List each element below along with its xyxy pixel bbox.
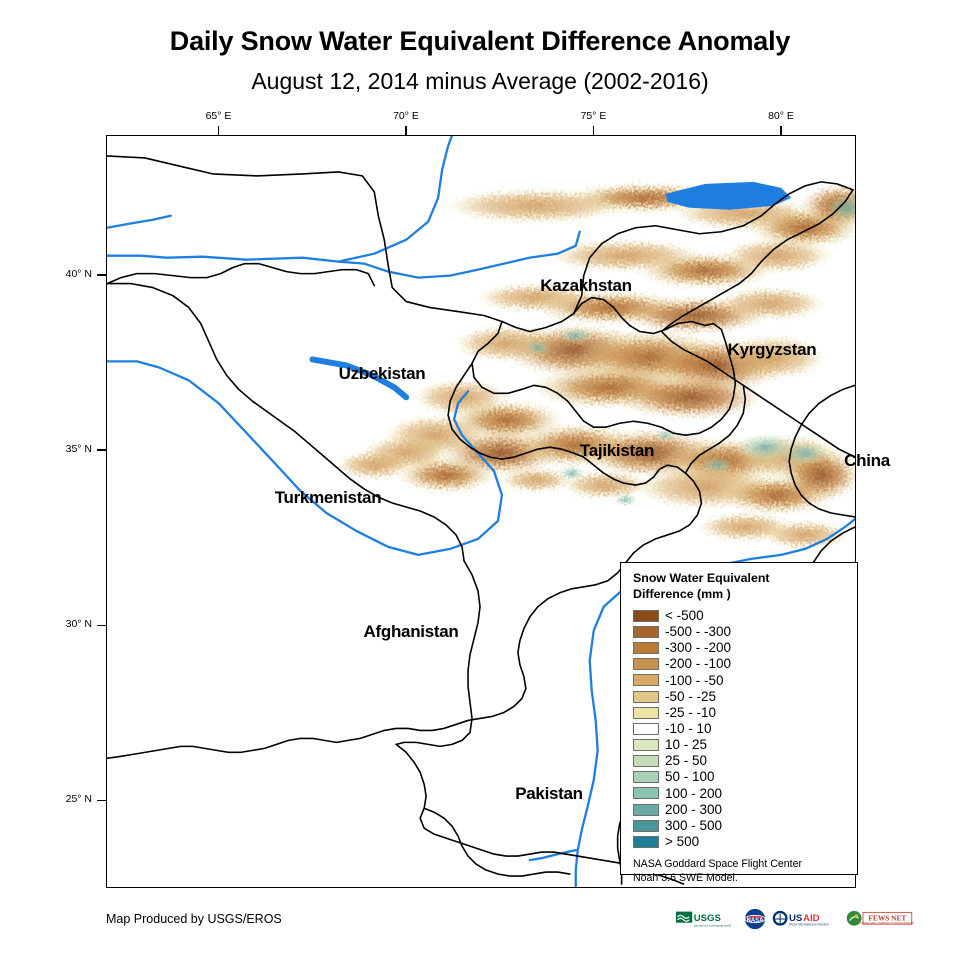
lon-tick-label-1: 70° E: [376, 110, 436, 122]
legend-label-9: 25 - 50: [665, 754, 707, 768]
svg-text:AID: AID: [803, 913, 820, 924]
lat-tick-mark-3: [97, 800, 106, 802]
legend-row-2: -300 - -200: [633, 640, 847, 656]
lon-tick-label-2: 75° E: [564, 110, 624, 122]
legend-row-0: < -500: [633, 608, 847, 624]
usgs-logo: USGS science for a changing world: [676, 908, 738, 930]
map-legend: Snow Water Equivalent Difference (mm ) <…: [620, 562, 858, 875]
legend-label-5: -50 - -25: [665, 690, 716, 704]
svg-text:US: US: [789, 913, 803, 924]
lon-tick-mark-3: [780, 126, 782, 135]
legend-label-11: 100 - 200: [665, 787, 722, 801]
legend-label-3: -200 - -100: [665, 657, 731, 671]
legend-row-3: -200 - -100: [633, 656, 847, 672]
lon-tick-mark-0: [218, 126, 220, 135]
lat-tick-label-3: 25° N: [32, 793, 92, 805]
country-label-kyrgyzstan: Kyrgyzstan: [728, 340, 817, 360]
legend-swatch-6: [633, 707, 659, 719]
legend-swatch-10: [633, 771, 659, 783]
legend-swatch-0: [633, 610, 659, 622]
footer-credit: Map Produced by USGS/EROS: [106, 912, 282, 926]
legend-swatch-9: [633, 755, 659, 767]
legend-entries: < -500-500 - -300-300 - -200-200 - -100-…: [633, 608, 847, 850]
legend-swatch-8: [633, 739, 659, 751]
svg-text:FEWS NET: FEWS NET: [868, 913, 906, 922]
svg-text:NASA: NASA: [747, 918, 765, 924]
legend-row-9: 25 - 50: [633, 753, 847, 769]
svg-text:science for a changing world: science for a changing world: [694, 923, 732, 927]
legend-title: Snow Water Equivalent Difference (mm ): [633, 571, 847, 603]
legend-row-4: -100 - -50: [633, 672, 847, 688]
lat-tick-mark-1: [97, 449, 106, 451]
legend-row-8: 10 - 25: [633, 737, 847, 753]
legend-row-11: 100 - 200: [633, 785, 847, 801]
legend-credit: NASA Goddard Space Flight Center Noah 3.…: [633, 857, 847, 886]
lon-tick-label-0: 65° E: [189, 110, 249, 122]
agency-logos: USGS science for a changing world NASA U…: [676, 908, 914, 930]
nasa-logo: NASA: [744, 908, 766, 930]
legend-swatch-11: [633, 787, 659, 799]
legend-label-14: > 500: [665, 835, 699, 849]
legend-row-14: > 500: [633, 834, 847, 850]
legend-swatch-4: [633, 674, 659, 686]
legend-label-2: -300 - -200: [665, 641, 731, 655]
page-subtitle: August 12, 2014 minus Average (2002-2016…: [0, 68, 960, 95]
page-title: Daily Snow Water Equivalent Difference A…: [0, 26, 960, 57]
country-label-afghanistan: Afghanistan: [364, 622, 459, 642]
country-label-turkmenistan: Turkmenistan: [275, 488, 382, 508]
legend-swatch-3: [633, 658, 659, 670]
legend-row-1: -500 - -300: [633, 624, 847, 640]
lat-tick-mark-0: [97, 274, 106, 276]
lat-tick-mark-2: [97, 625, 106, 627]
legend-row-6: -25 - -10: [633, 705, 847, 721]
lat-tick-label-2: 30° N: [32, 618, 92, 630]
legend-title-line-2: Difference (mm ): [633, 587, 847, 603]
lon-tick-mark-2: [593, 126, 595, 135]
legend-row-7: -10 - 10: [633, 721, 847, 737]
legend-row-13: 300 - 500: [633, 818, 847, 834]
country-label-uzbekistan: Uzbekistan: [339, 364, 426, 384]
lon-tick-label-3: 80° E: [751, 110, 811, 122]
legend-swatch-7: [633, 723, 659, 735]
legend-label-10: 50 - 100: [665, 770, 715, 784]
country-label-pakistan: Pakistan: [515, 784, 583, 804]
legend-label-13: 300 - 500: [665, 819, 722, 833]
legend-swatch-12: [633, 804, 659, 816]
legend-swatch-14: [633, 836, 659, 848]
svg-text:FAMINE EARLY WARNING SYSTEMS N: FAMINE EARLY WARNING SYSTEMS NETWORK: [861, 922, 914, 925]
lat-tick-label-0: 40° N: [32, 268, 92, 280]
country-label-tajikistan: Tajikistan: [580, 441, 654, 461]
fewsnet-logo: FEWS NET FAMINE EARLY WARNING SYSTEMS NE…: [846, 908, 914, 930]
legend-label-8: 10 - 25: [665, 738, 707, 752]
country-label-china: China: [844, 451, 890, 471]
svg-text:FROM THE AMERICAN PEOPLE: FROM THE AMERICAN PEOPLE: [789, 923, 829, 927]
legend-label-12: 200 - 300: [665, 803, 722, 817]
legend-label-4: -100 - -50: [665, 674, 724, 688]
lat-tick-label-1: 35° N: [32, 443, 92, 455]
legend-swatch-2: [633, 642, 659, 654]
legend-swatch-5: [633, 691, 659, 703]
legend-label-6: -25 - -10: [665, 706, 716, 720]
lon-tick-mark-1: [405, 126, 407, 135]
legend-row-10: 50 - 100: [633, 769, 847, 785]
legend-title-line-1: Snow Water Equivalent: [633, 571, 847, 587]
country-label-kazakhstan: Kazakhstan: [540, 276, 631, 296]
legend-row-5: -50 - -25: [633, 688, 847, 704]
legend-label-0: < -500: [665, 609, 704, 623]
legend-label-1: -500 - -300: [665, 625, 731, 639]
usaid-logo: US AID FROM THE AMERICAN PEOPLE: [772, 908, 840, 930]
legend-swatch-1: [633, 626, 659, 638]
legend-swatch-13: [633, 820, 659, 832]
legend-label-7: -10 - 10: [665, 722, 712, 736]
svg-text:USGS: USGS: [694, 913, 722, 924]
legend-row-12: 200 - 300: [633, 801, 847, 817]
